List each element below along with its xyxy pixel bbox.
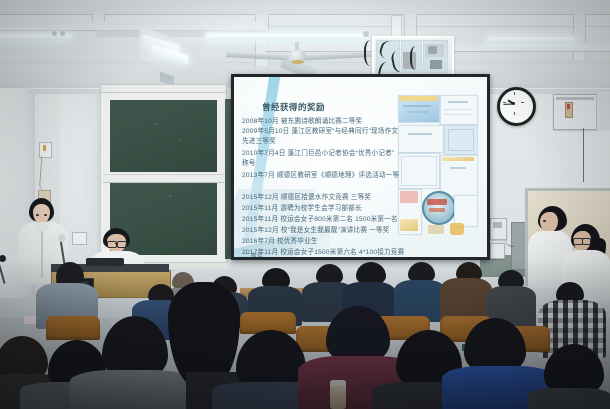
eye (543, 220, 546, 222)
microphone-head (58, 234, 66, 242)
projector-panel (430, 60, 442, 69)
slide-line: 2015年11月 游聘为校学生会学习部部长 (242, 202, 362, 212)
eye (44, 214, 47, 216)
certificate-line (448, 101, 468, 103)
ceiling-hanger (404, 14, 417, 36)
projector-cable (410, 46, 424, 70)
classroom-photo: 曾经获得的奖励 2008年10月 被东圃诗歌朗诵比赛二等奖 2009年5月10日… (0, 0, 610, 409)
projector-lens (428, 46, 437, 54)
podium-equipment (86, 258, 124, 266)
blackboard-panel-upper (110, 100, 217, 172)
electrical-box-face (493, 222, 502, 228)
certificate-inner-frame (401, 156, 437, 186)
slide-line: 2015年12月 顺德区拾遗水作文竞赛 三等奖 (242, 191, 371, 201)
wall-clock (497, 87, 536, 126)
glasses-lens (117, 241, 127, 248)
clock-center (512, 102, 515, 105)
slide-line: 称号 (242, 157, 256, 167)
cup-lid (330, 380, 346, 386)
fluorescent-light (207, 34, 368, 40)
cabinet-slot (556, 97, 594, 100)
wall-edge (97, 88, 99, 273)
chalk-mark (179, 139, 181, 141)
foreground-long-hair (168, 282, 240, 386)
certificate-collage (398, 95, 476, 241)
slide-line: 二等奖 (244, 251, 263, 257)
light-mount (52, 31, 57, 36)
light-mount (60, 31, 65, 36)
slide-line: 2008年10月 被东圃诗歌朗诵比赛二等奖 (242, 115, 362, 125)
certificate-thumb (440, 95, 478, 125)
slide-line: 2016年7月 校优秀毕业生 (242, 235, 318, 245)
switch-indicator (43, 145, 46, 151)
certificate-thumb (428, 225, 444, 234)
wall-outlet[interactable] (72, 232, 87, 245)
light-mount (363, 31, 369, 37)
certificate-line (403, 105, 431, 107)
blackboard-slide-rail (103, 174, 224, 183)
slide-line: 2015年11月 校运会女子800米第二名 1500米第一名 (242, 213, 398, 223)
certificate-inner-frame (448, 129, 474, 151)
wall-corner (596, 92, 610, 130)
certificate-line (406, 111, 428, 113)
clock-tick (514, 92, 515, 95)
certificate-photo (400, 219, 418, 231)
clock-tick (521, 102, 524, 103)
foreground-body (528, 388, 610, 409)
chalk-mark (154, 123, 157, 125)
glasses-lens (582, 238, 591, 245)
certificate-badge (450, 223, 464, 235)
chalk-mark (169, 195, 172, 197)
slide-line: 2017年11月 校运会女子1500米第六名 4*100接力竞赛 (242, 246, 404, 256)
certificate-thumb (398, 125, 444, 153)
certificate-line (450, 167, 466, 169)
slide-line: 2009年5月10日 蓬江区教研室“与经典同行”现场作文 (242, 125, 398, 135)
certificate-thumb (440, 155, 478, 197)
slide-line: 先进三等奖 (242, 135, 276, 145)
blackboard-top-rail (100, 84, 227, 93)
fan-light (291, 60, 304, 64)
slide-line: 2010年7月4日 蓬江门巨邑小记者协会“优秀小记者” (242, 147, 394, 157)
certificate-photo (400, 191, 418, 203)
slide-heading: 曾经获得的奖励 (262, 101, 325, 113)
chair-back (46, 316, 100, 340)
certificate-line (408, 133, 432, 135)
projector-cable (364, 40, 380, 66)
wall-outlet[interactable] (490, 243, 505, 259)
eye (36, 214, 39, 216)
foreground-body (70, 370, 194, 409)
certificate-line (444, 114, 472, 115)
projection-screen: 曾经获得的奖励 2008年10月 被东圃诗歌朗诵比赛二等奖 2009年5月10日… (234, 77, 487, 257)
clock-tick (514, 112, 515, 115)
certificate-banner (399, 96, 437, 101)
ceiling-beam (0, 0, 610, 15)
glasses-bridge (115, 243, 117, 244)
seal-text (427, 199, 447, 205)
shirt-placket (41, 228, 43, 278)
slide-line: 2013年7月 顺德区教研室《顺德地理》评选活动一等 (242, 169, 399, 179)
certificate-banner (442, 157, 474, 161)
certificate-line (444, 109, 472, 110)
seal-text (429, 208, 445, 212)
indicator-light (567, 104, 570, 109)
conduit-wire (583, 128, 585, 182)
slide-line: 2015年12月 校“我是女生我最靓”演讲比赛 一等奖 (242, 224, 390, 234)
fluorescent-light (488, 37, 574, 43)
